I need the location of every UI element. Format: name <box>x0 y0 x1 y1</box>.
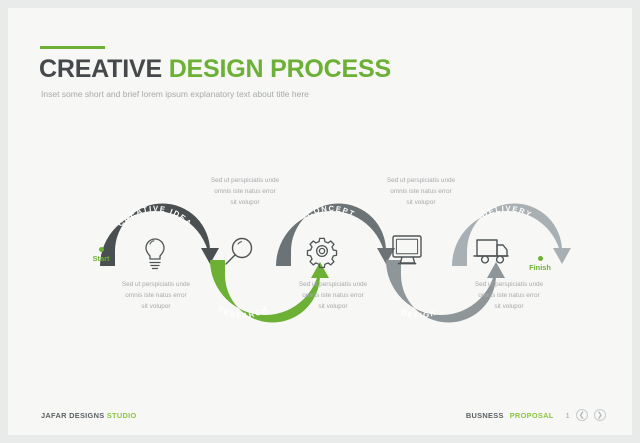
caption-line: omnis iste natus error <box>362 186 480 197</box>
caption-line: sit volupor <box>450 301 568 312</box>
finish-marker: Finish <box>517 256 563 272</box>
caption-design: Sed ut perspiciatis unde omnis iste natu… <box>362 175 480 208</box>
caption-line: omnis iste natus error <box>274 290 392 301</box>
monitor-icon <box>393 236 421 264</box>
magnifier-icon <box>226 239 252 265</box>
caption-line: omnis iste natus error <box>97 290 215 301</box>
caption-line: Sed ut perspiciatis unde <box>186 175 304 186</box>
caption-concept: Sed ut perspiciatis unde omnis iste natu… <box>274 279 392 312</box>
footer-doc-green: PROPOSAL <box>510 411 554 420</box>
footer-brand-green: STUDIO <box>107 411 137 420</box>
footer-brand-dark: JAFAR DESIGNS <box>41 411 104 420</box>
caption-delivery: Sed ut perspiciatis unde omnis iste natu… <box>450 279 568 312</box>
start-dot <box>99 247 104 252</box>
caption-line: sit volupor <box>97 301 215 312</box>
finish-dot <box>538 256 543 261</box>
footer-doc-dark: BUSNESS <box>466 411 504 420</box>
process-diagram: CREATIVE IDEA RESEARCH CONCEPT DESIGN <box>8 8 632 435</box>
caption-creative-idea: Sed ut perspiciatis unde omnis iste natu… <box>97 279 215 312</box>
start-label: Start <box>78 254 124 263</box>
caption-line: sit volupor <box>274 301 392 312</box>
footer-meta: BUSNESS PROPOSAL 1 ❮ ❯ <box>466 409 606 421</box>
page-number: 1 <box>566 411 570 420</box>
caption-line: omnis iste natus error <box>450 290 568 301</box>
lightbulb-icon <box>146 239 164 269</box>
caption-line: omnis iste natus error <box>186 186 304 197</box>
caption-line: Sed ut perspiciatis unde <box>97 279 215 290</box>
caption-line: Sed ut perspiciatis unde <box>362 175 480 186</box>
caption-line: Sed ut perspiciatis unde <box>274 279 392 290</box>
caption-line: sit volupor <box>362 197 480 208</box>
chevron-left-icon[interactable]: ❮ <box>576 409 588 421</box>
slide-canvas: CREATIVE DESIGN PROCESS Inset some short… <box>8 8 632 435</box>
gear-icon <box>307 238 336 267</box>
process-step-concept[interactable]: CONCEPT <box>276 204 395 266</box>
truck-icon <box>474 240 508 263</box>
caption-line: sit volupor <box>186 197 304 208</box>
caption-research: Sed ut perspiciatis unde omnis iste natu… <box>186 175 304 208</box>
caption-line: Sed ut perspiciatis unde <box>450 279 568 290</box>
footer-brand: JAFAR DESIGNS STUDIO <box>41 411 137 420</box>
chevron-right-icon[interactable]: ❯ <box>594 409 606 421</box>
finish-label: Finish <box>517 263 563 272</box>
start-marker: Start <box>78 247 124 263</box>
